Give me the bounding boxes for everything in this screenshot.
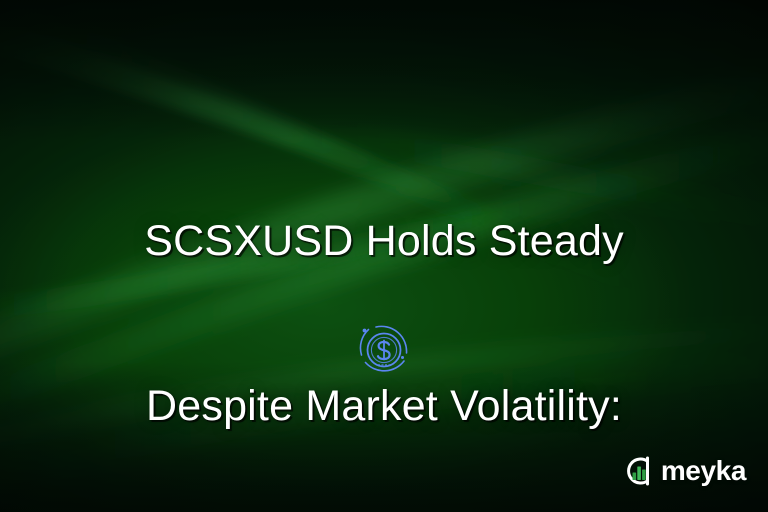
brand-name: meyka bbox=[661, 457, 746, 485]
dollar-coin-icon bbox=[352, 317, 416, 381]
banner-canvas: SCSXUSD Holds Steady Despite Market Vola… bbox=[0, 0, 768, 512]
headline-line-1: SCSXUSD Holds Steady bbox=[0, 214, 768, 269]
headline-line-2: Despite Market Volatility: bbox=[0, 379, 768, 434]
brand-logo[interactable]: meyka bbox=[622, 454, 746, 488]
page-title: SCSXUSD Holds Steady Despite Market Vola… bbox=[0, 104, 768, 512]
meyka-bar-chart-logo-icon bbox=[622, 454, 656, 488]
